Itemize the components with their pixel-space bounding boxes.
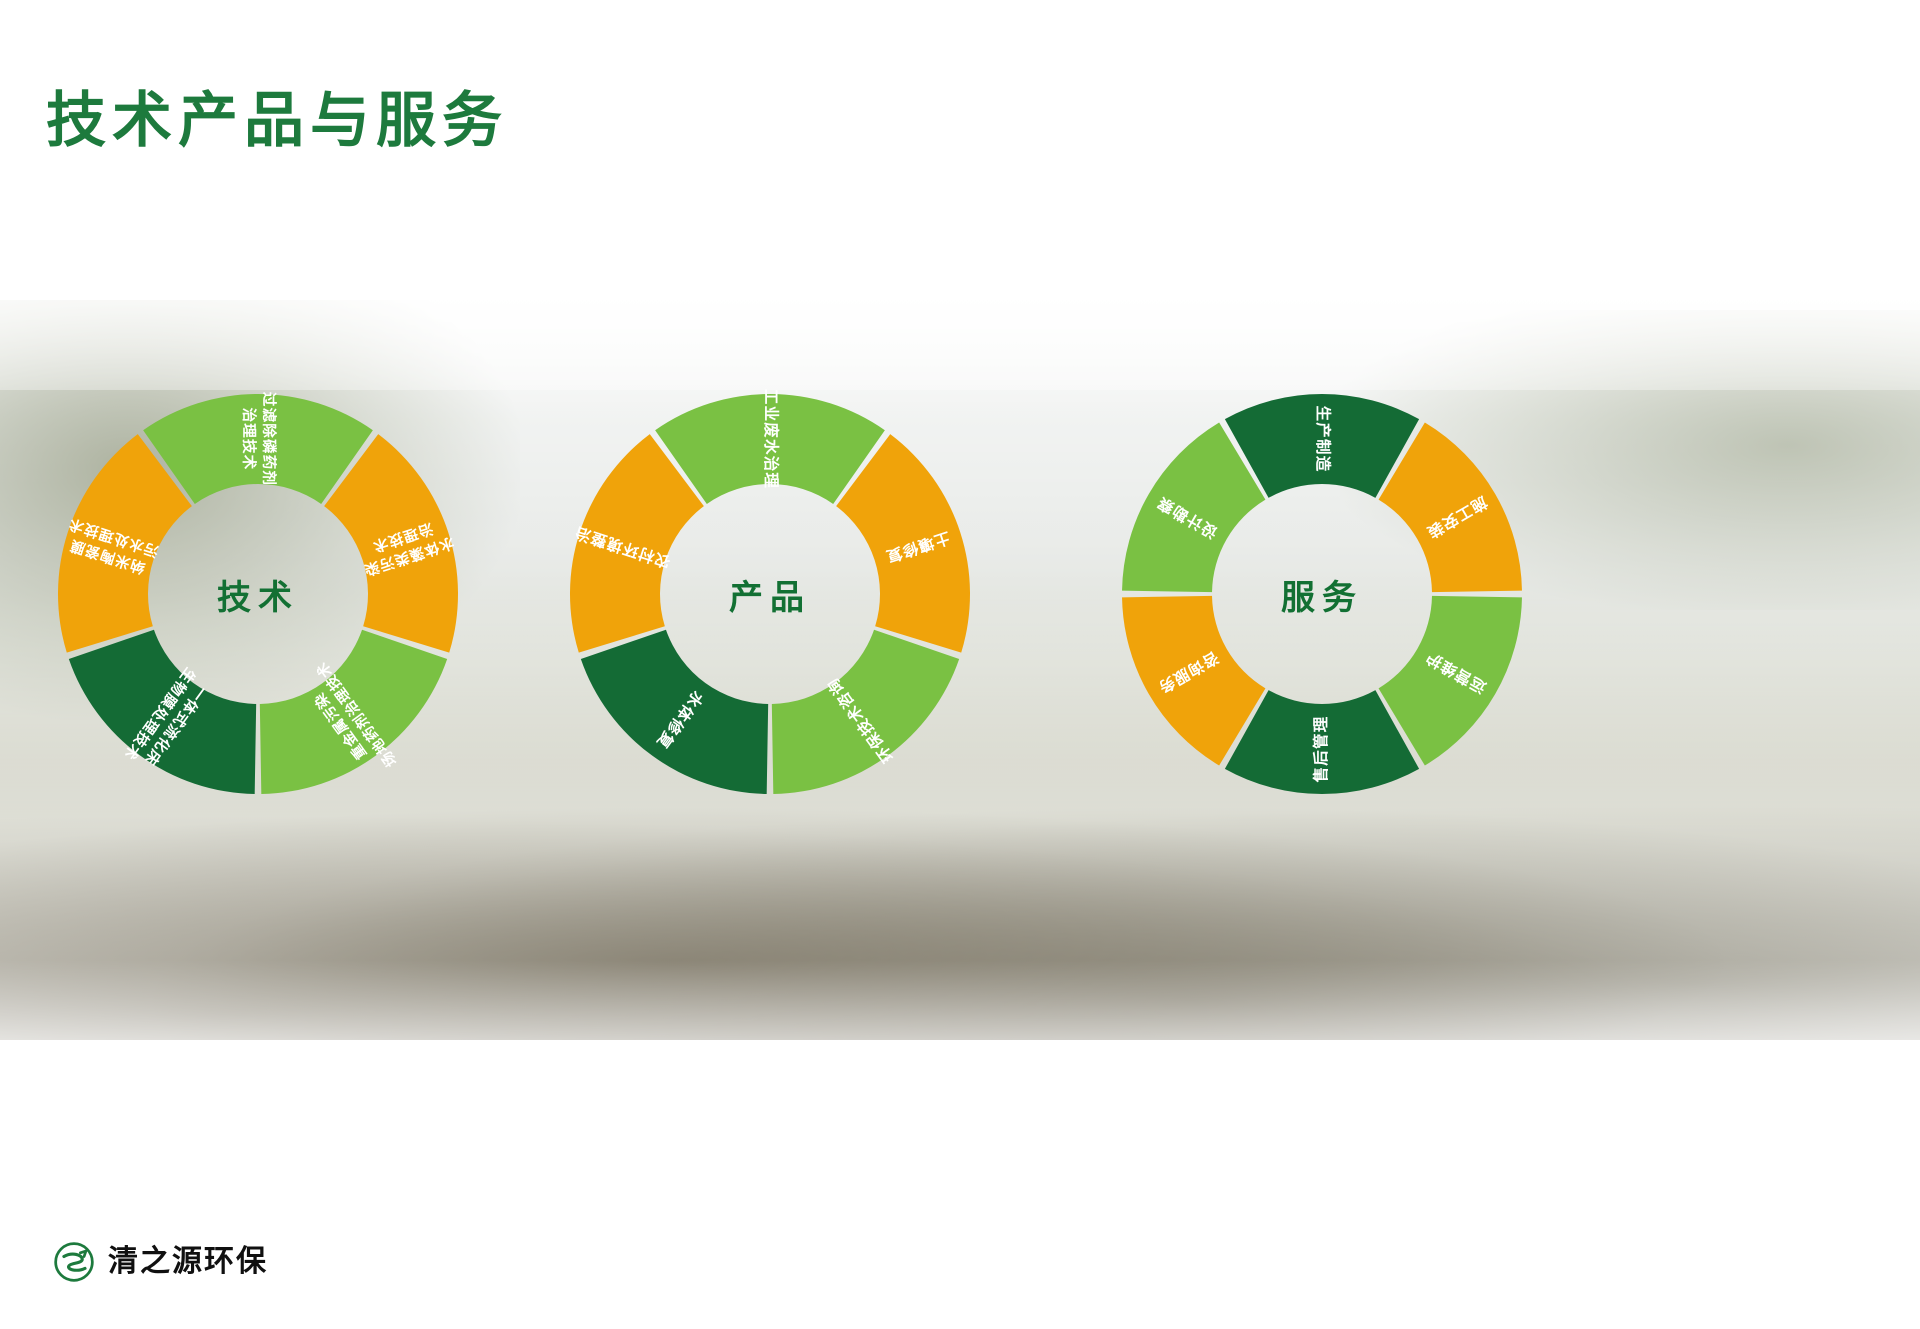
- logo-brand-text: 清之源环保: [108, 1247, 268, 1277]
- footer-logo: 清之源环保: [52, 1240, 268, 1284]
- donut-segment-label: 过滤除磷药剂: [260, 392, 278, 486]
- background-fade-bottom: [0, 960, 1920, 1329]
- donut-svg-product: 工业废水治理土壤修复环保技术咨询水体修复农村环境整治: [560, 384, 980, 804]
- donut-segment-label: 生产制造: [1314, 406, 1333, 473]
- background-fade-top: [0, 230, 1920, 390]
- donut-chart-product: 工业废水治理土壤修复环保技术咨询水体修复农村环境整治 产品: [560, 384, 980, 804]
- donut-segment-label: 治理技术: [240, 408, 258, 471]
- logo-mark-icon: [52, 1240, 96, 1284]
- donut-svg-tech: 过滤除磷药剂治理技术水体藻类污染治理技术重金属污染场地药剂治理技术一体式流化床生…: [48, 384, 468, 804]
- donut-segment-label: 工业废水治理: [762, 389, 781, 489]
- donut-segment-label-group: 生产制造: [1314, 406, 1333, 473]
- donut-svg-service: 生产制造施工安装运营维护售后管理咨询服务设计勘察: [1112, 384, 1532, 804]
- donut-chart-service: 生产制造施工安装运营维护售后管理咨询服务设计勘察 服务: [1112, 384, 1532, 804]
- donut-segment-label-group: 售后管理: [1311, 716, 1330, 783]
- donut-segment-label: 售后管理: [1311, 716, 1330, 783]
- donut-chart-tech: 过滤除磷药剂治理技术水体藻类污染治理技术重金属污染场地药剂治理技术一体式流化床生…: [48, 384, 468, 804]
- donut-segment-label-group: 工业废水治理: [762, 389, 781, 489]
- page-title: 技术产品与服务: [46, 72, 508, 159]
